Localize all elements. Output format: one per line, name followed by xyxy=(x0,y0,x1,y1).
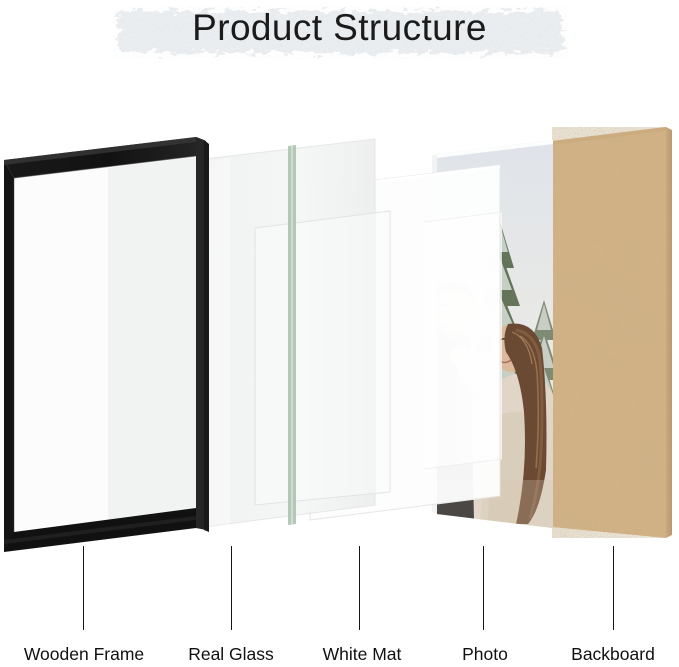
callout-line-real-glass xyxy=(231,546,232,630)
layer-real-glass xyxy=(196,139,390,528)
callout-line-wooden-frame xyxy=(83,546,84,630)
layer-wooden-frame xyxy=(4,137,209,552)
label-photo: Photo xyxy=(428,643,542,665)
callout-line-white-mat xyxy=(359,546,360,630)
label-backboard: Backboard xyxy=(543,643,679,665)
callout-line-backboard xyxy=(613,546,614,630)
label-wooden-frame: Wooden Frame xyxy=(0,643,168,665)
layer-backboard xyxy=(552,127,672,538)
callout-line-photo xyxy=(483,546,484,630)
label-white-mat: White Mat xyxy=(297,643,427,665)
label-real-glass: Real Glass xyxy=(163,643,299,665)
product-structure-diagram xyxy=(0,0,679,667)
